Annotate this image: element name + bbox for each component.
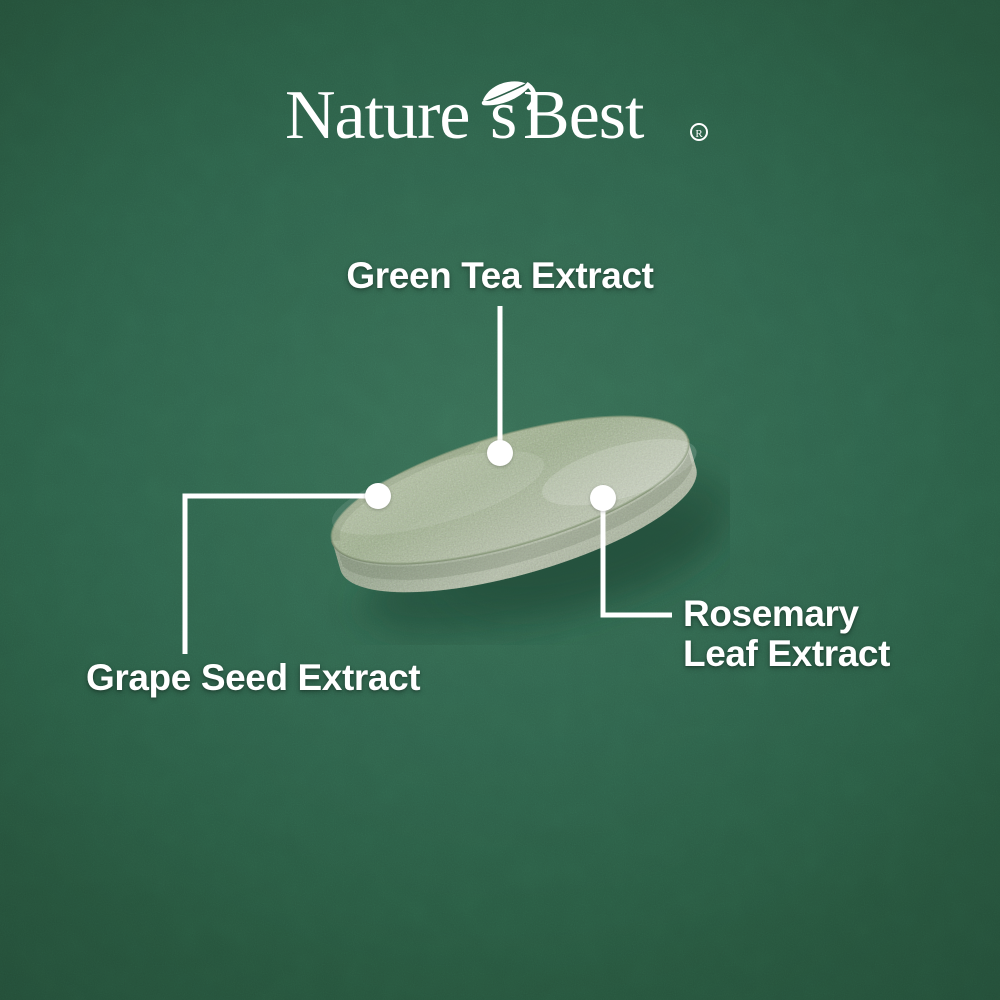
callout-label-green-tea: Green Tea Extract xyxy=(0,256,1000,296)
svg-text:Nature: Nature xyxy=(285,78,469,154)
svg-text:R: R xyxy=(695,128,703,140)
svg-text:s: s xyxy=(490,78,516,154)
callout-label-grape-seed: Grape Seed Extract xyxy=(86,658,420,698)
tablet-image xyxy=(290,385,730,645)
registered-trademark-icon: R xyxy=(691,124,707,140)
leaf-apostrophe-icon xyxy=(483,81,534,108)
natures-best-wordmark: Nature s Best R xyxy=(285,78,715,156)
svg-text:Best: Best xyxy=(523,78,645,154)
brand-logo: Nature s Best R xyxy=(0,78,1000,161)
callout-label-rosemary: Rosemary Leaf Extract xyxy=(683,594,890,675)
product-callout-graphic: Nature s Best R xyxy=(0,0,1000,1000)
